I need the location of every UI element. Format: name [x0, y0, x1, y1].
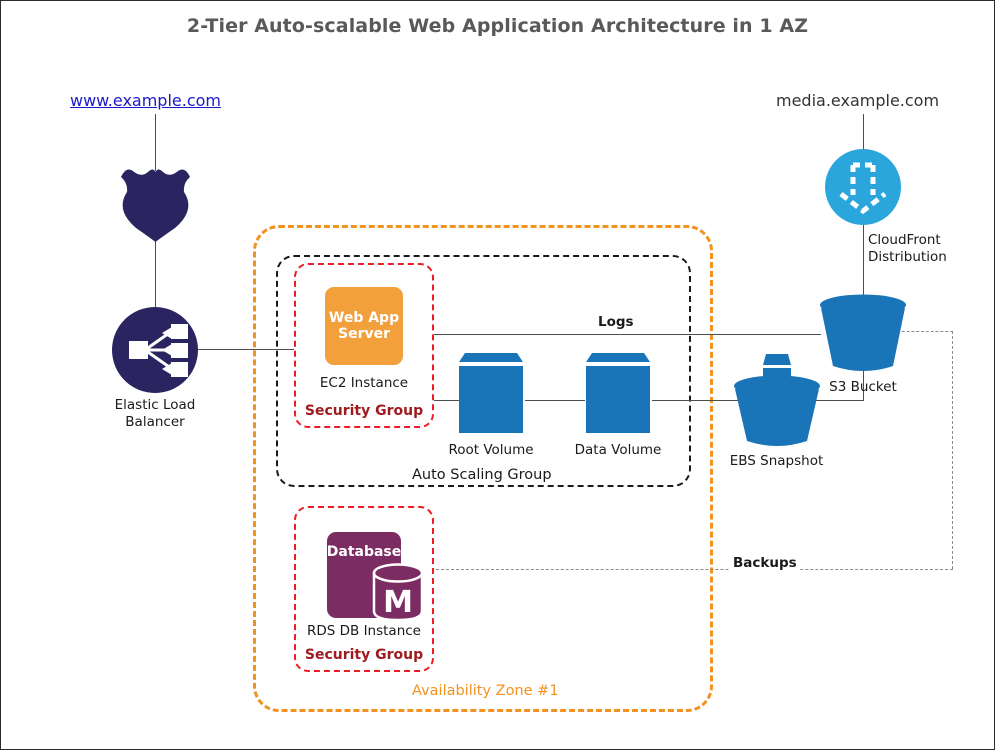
connector-data-volume-to-snapshot — [652, 400, 738, 401]
route-53-shield-icon[interactable] — [113, 164, 198, 244]
web-endpoint-url[interactable]: www.example.com — [70, 91, 221, 110]
cloudfront-distribution-caption: CloudFront Distribution — [868, 232, 947, 266]
ec2-instance-caption: EC2 Instance — [304, 375, 424, 391]
connector-logs-ec2-to-s3 — [391, 334, 821, 335]
security-group-db-label: Security Group — [296, 647, 432, 663]
ebs-snapshot-caption: EBS Snapshot — [719, 453, 834, 469]
root-volume-icon[interactable] — [457, 353, 525, 433]
security-group-web-label: Security Group — [296, 403, 432, 419]
data-volume-icon[interactable] — [584, 353, 652, 433]
connector-label-backups: Backups — [730, 555, 800, 571]
auto-scaling-group-label: Auto Scaling Group — [407, 467, 557, 483]
elastic-load-balancer-icon[interactable] — [112, 307, 198, 393]
ebs-snapshot-icon[interactable] — [733, 351, 821, 449]
data-volume-caption: Data Volume — [563, 442, 673, 458]
connector-route53-to-elb — [155, 241, 156, 307]
connector-cloudfront-to-s3 — [863, 223, 864, 298]
connector-backups-to-rds — [431, 569, 953, 570]
connector-root-to-data-volume — [525, 400, 585, 401]
media-endpoint-url[interactable]: media.example.com — [776, 91, 939, 110]
root-volume-caption: Root Volume — [436, 442, 546, 458]
availability-zone-label: Availability Zone #1 — [412, 683, 559, 699]
page-title: 2-Tier Auto-scalable Web Application Arc… — [1, 15, 994, 37]
s3-bucket-icon[interactable] — [819, 294, 907, 374]
connector-url-to-cloudfront — [863, 114, 864, 152]
connector-label-logs: Logs — [595, 314, 637, 330]
cloudfront-distribution-icon[interactable] — [825, 149, 901, 225]
mysql-cylinder-icon: M — [371, 562, 425, 624]
connector-elb-to-ec2 — [198, 349, 306, 350]
connector-url-to-route53 — [155, 114, 156, 171]
svg-text:M: M — [383, 585, 413, 620]
ec2-instance-node[interactable]: Web App Server — [325, 287, 403, 365]
connector-backups-right-edge — [952, 331, 953, 569]
s3-bucket-caption: S3 Bucket — [813, 379, 913, 395]
elastic-load-balancer-label: Elastic Load Balancer — [95, 397, 215, 431]
rds-db-instance-caption: RDS DB Instance — [299, 623, 429, 639]
diagram-canvas: 2-Tier Auto-scalable Web Application Arc… — [0, 0, 995, 750]
